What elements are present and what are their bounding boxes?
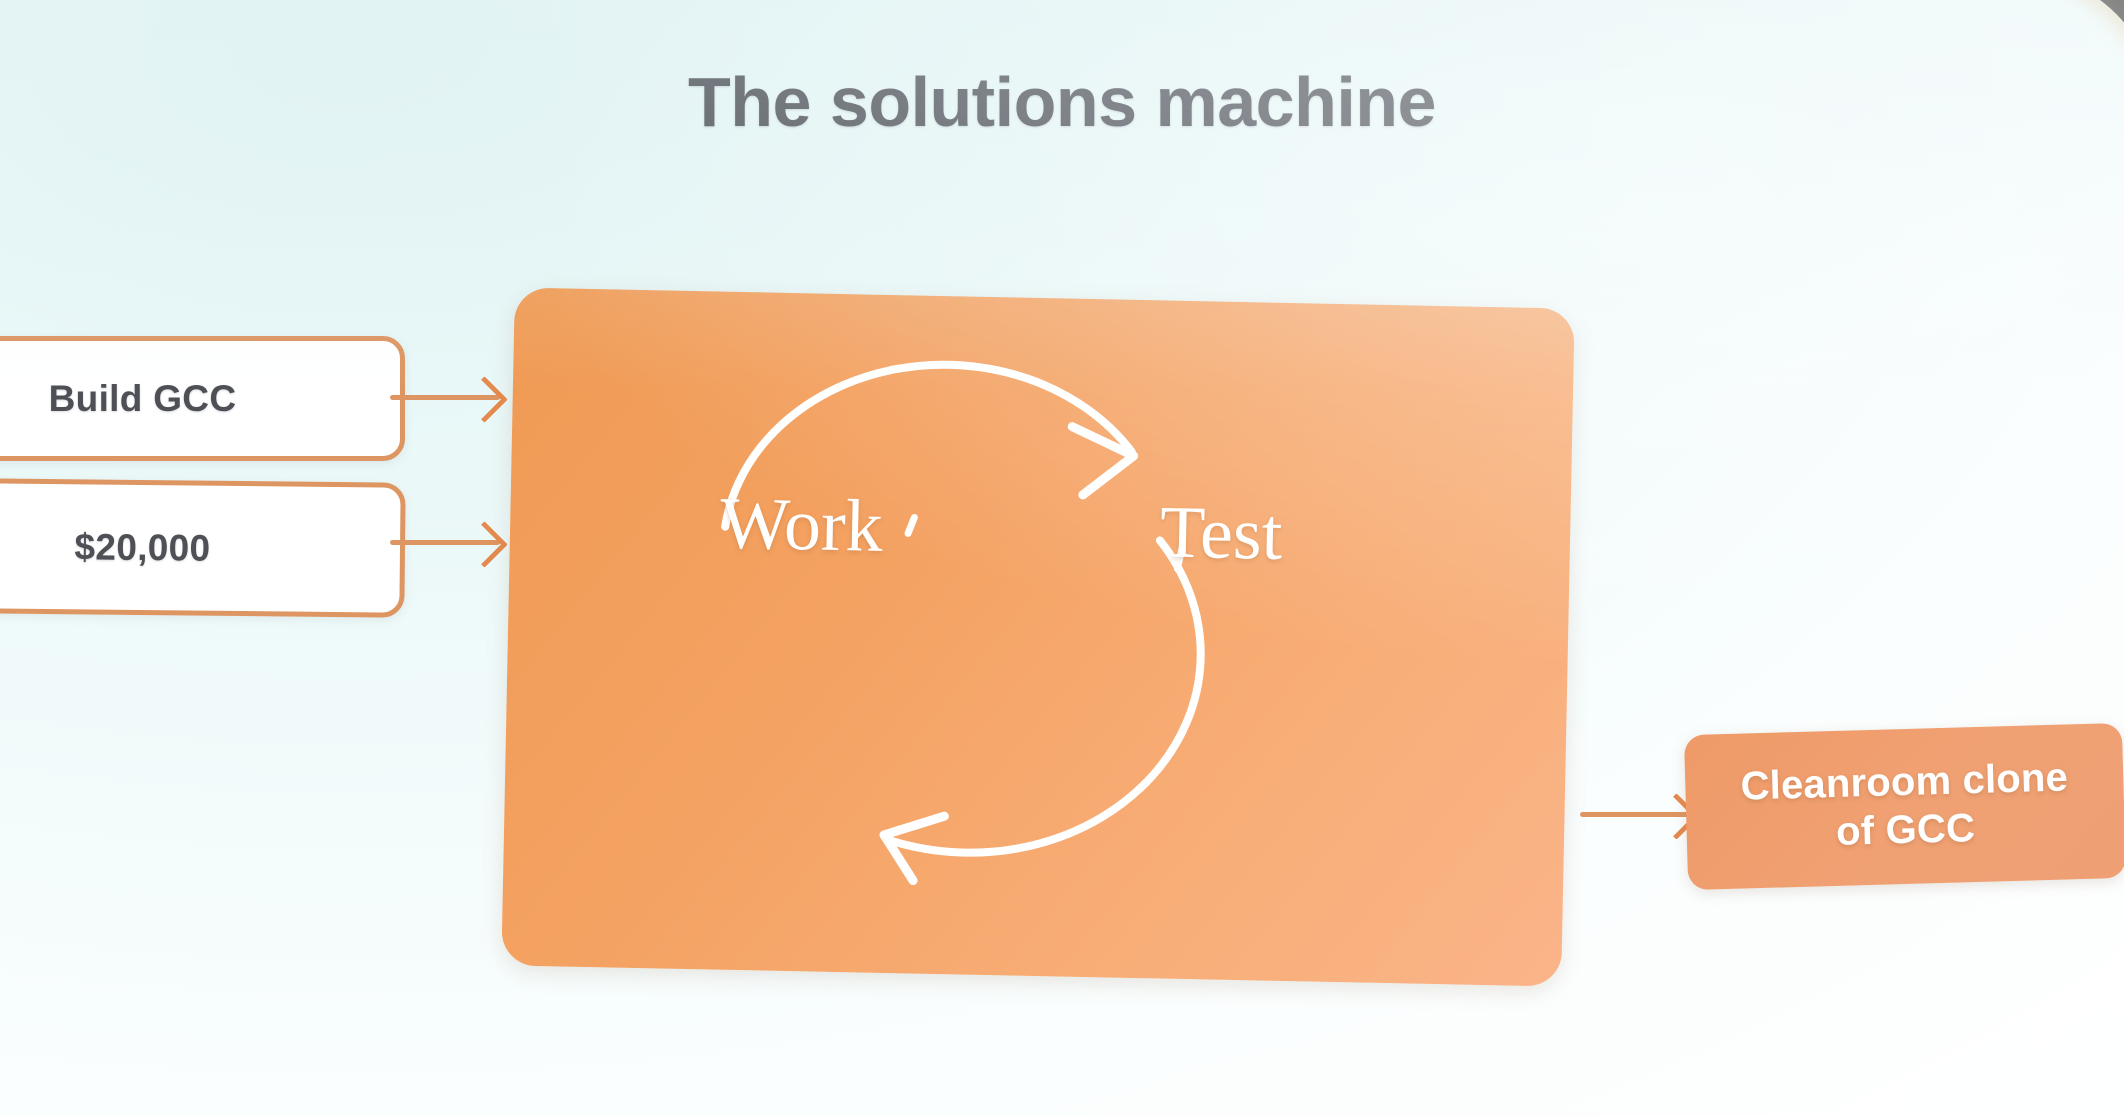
slide-photo: The solutions machine Build GCC $20,000	[0, 0, 2124, 1116]
page-title: The solutions machine	[0, 62, 2124, 142]
cycle-stage-test: Test	[1159, 495, 1283, 571]
arrow-right-icon	[461, 521, 508, 568]
input-card-budget-label: $20,000	[74, 526, 210, 569]
projected-slide-surface: The solutions machine Build GCC $20,000	[0, 0, 2124, 1116]
cycle-arrows-group	[501, 287, 1574, 986]
output-card-label-line1: Cleanroom clone	[1740, 756, 2069, 809]
output-card-label-line2: of GCC	[1836, 806, 1976, 854]
input-card-build-gcc-label: Build GCC	[49, 378, 237, 420]
input-card-build-gcc[interactable]: Build GCC	[0, 336, 405, 461]
output-card-cleanroom-clone[interactable]: Cleanroom clone of GCC	[1684, 723, 2124, 890]
arrow-right-icon	[461, 376, 508, 423]
cycle-stage-work: Work	[719, 487, 883, 564]
cycle-arc-bottom	[889, 535, 1203, 857]
input-card-budget[interactable]: $20,000	[0, 477, 406, 617]
slide-content: The solutions machine Build GCC $20,000	[0, 0, 2124, 1116]
machine-panel-inner: Work Test	[501, 287, 1574, 986]
output-card-label: Cleanroom clone of GCC	[1740, 755, 2070, 858]
cycle-tick-left	[908, 517, 914, 533]
solutions-machine-panel: Work Test	[501, 287, 1574, 986]
